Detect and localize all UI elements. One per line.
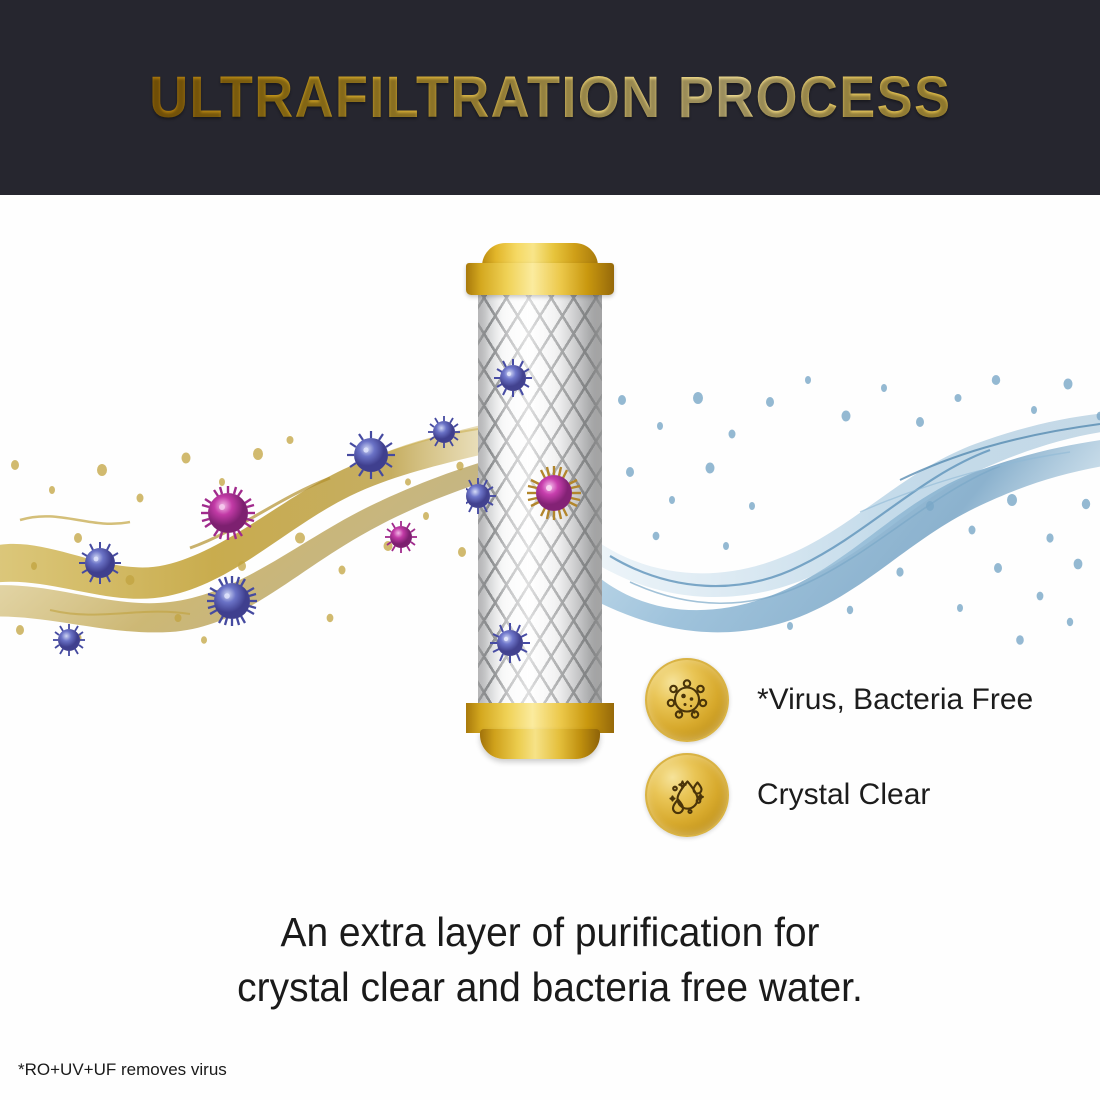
- dirty-water-splash: [0, 370, 510, 670]
- filter-bottom-cap: [466, 703, 614, 761]
- crystal-clear-badge: [645, 753, 729, 837]
- virus-germ-icon: [662, 675, 712, 725]
- footnote-disclaimer: *RO+UV+UF removes virus: [18, 1060, 227, 1080]
- feature-crystal-clear[interactable]: Crystal Clear: [645, 747, 1075, 842]
- tagline-line-2: crystal clear and bacteria free water.: [28, 960, 1073, 1015]
- filter-bottom-foot: [480, 729, 600, 759]
- ultrafiltration-infographic: ULTRAFILTRATION PROCESS: [0, 0, 1100, 1100]
- feature-label-crystal-clear: Crystal Clear: [757, 778, 930, 812]
- header-banner: ULTRAFILTRATION PROCESS: [0, 0, 1100, 195]
- filter-cap-band: [466, 263, 614, 295]
- tagline-line-1: An extra layer of purification for: [28, 905, 1073, 960]
- page-title: ULTRAFILTRATION PROCESS: [149, 64, 951, 131]
- filter-top-cap: [466, 243, 614, 295]
- virus-bacteria-free-badge: [645, 658, 729, 742]
- feature-list: *Virus, Bacteria Free: [645, 652, 1075, 842]
- clean-water-splash: [600, 360, 1100, 670]
- water-droplet-sparkle-icon: [662, 770, 712, 820]
- virus-particle: [53, 416, 460, 656]
- tagline: An extra layer of purification for cryst…: [28, 905, 1073, 1014]
- filter-mesh-body: [478, 281, 602, 721]
- feature-label-virus-bacteria-free: *Virus, Bacteria Free: [757, 683, 1033, 717]
- feature-virus-bacteria-free[interactable]: *Virus, Bacteria Free: [645, 652, 1075, 747]
- ultrafiltration-filter-cartridge: [466, 243, 614, 755]
